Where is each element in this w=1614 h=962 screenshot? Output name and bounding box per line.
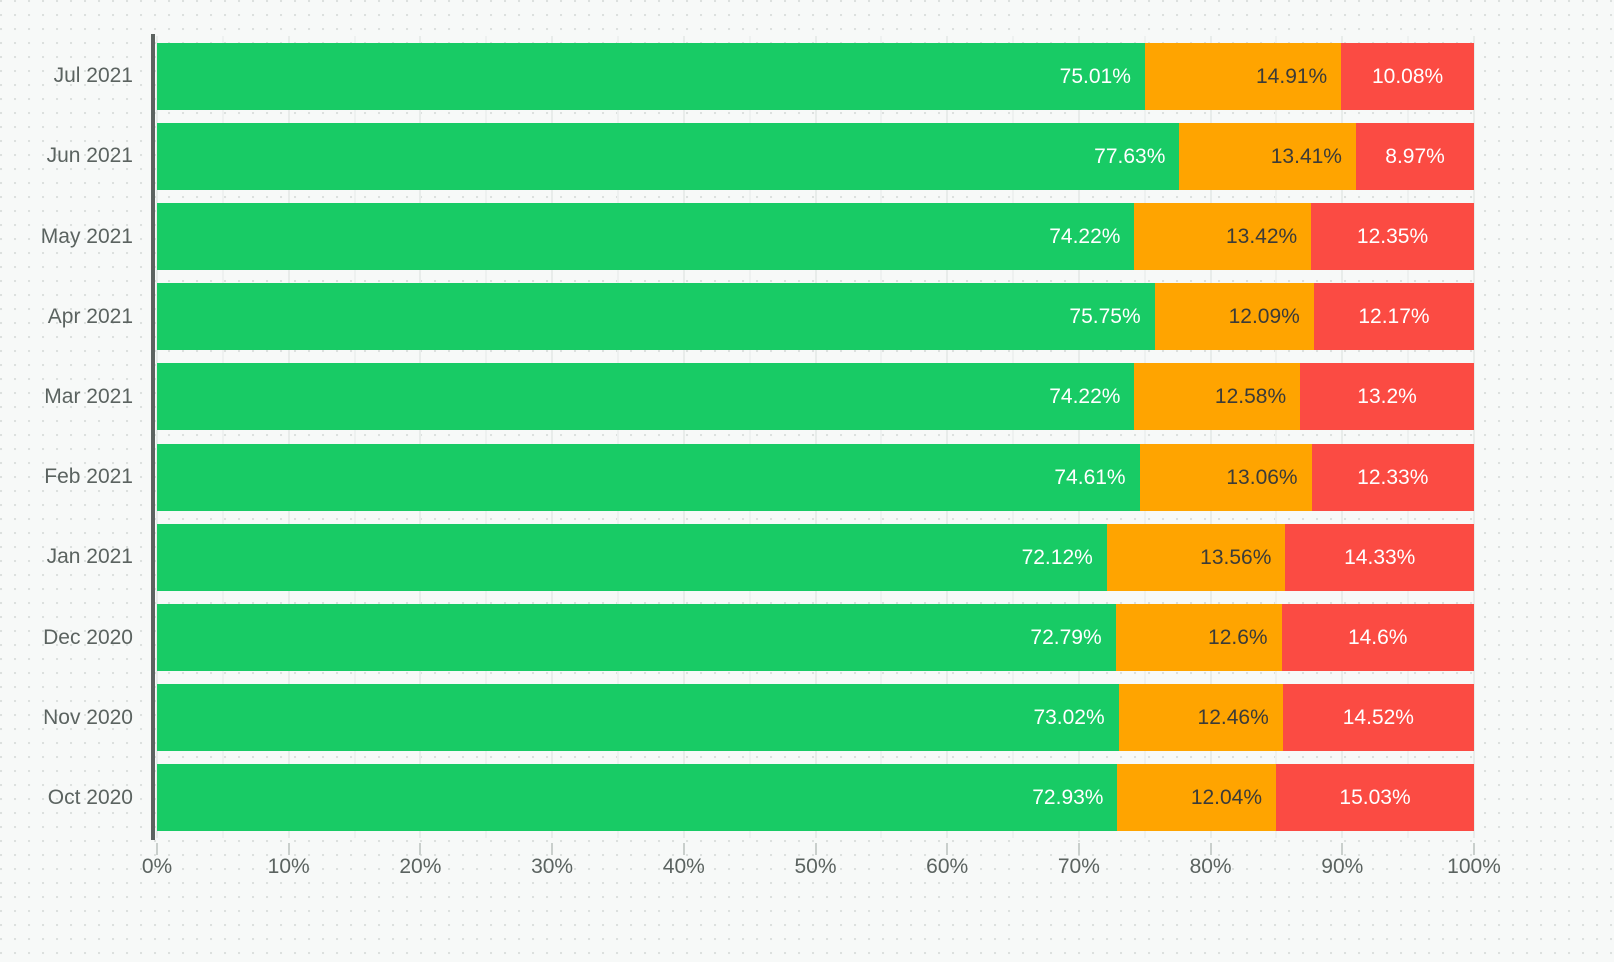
bar-segment-value-label: 14.91%	[1256, 66, 1341, 87]
y-axis-tick-labels: Jul 2021Jun 2021May 2021Apr 2021Mar 2021…	[0, 36, 133, 838]
bar-row: 72.12%13.56%14.33%	[157, 524, 1474, 591]
y-axis-tick-label: Dec 2020	[43, 604, 133, 671]
bar-segment-value-label: 74.22%	[1049, 386, 1134, 407]
bar-segment-red[interactable]: 15.03%	[1276, 764, 1474, 831]
bar-row: 77.63%13.41%8.97%	[157, 123, 1474, 190]
bar-segment-red[interactable]: 12.17%	[1314, 283, 1474, 350]
bar-segment-value-label: 12.09%	[1229, 306, 1314, 327]
y-axis-tick-label: Jan 2021	[47, 524, 133, 591]
x-axis-tick-label: 100%	[1447, 855, 1501, 879]
bar-segment-green[interactable]: 74.61%	[157, 444, 1140, 511]
bar-segment-value-label: 12.04%	[1191, 787, 1276, 808]
bar-row: 74.22%12.58%13.2%	[157, 363, 1474, 430]
bar-segment-value-label: 73.02%	[1033, 707, 1118, 728]
x-axis-tick-label: 0%	[142, 855, 172, 879]
bar-segment-red[interactable]: 14.6%	[1282, 604, 1474, 671]
y-axis-tick-label: Feb 2021	[44, 444, 133, 511]
bar-segment-value-label: 12.58%	[1215, 386, 1300, 407]
bar-segment-green[interactable]: 72.93%	[157, 764, 1117, 831]
x-axis-tick-label: 40%	[663, 855, 705, 879]
bar-segment-orange[interactable]: 13.41%	[1179, 123, 1356, 190]
bar-segment-orange[interactable]: 12.58%	[1134, 363, 1300, 430]
bar-segment-value-label: 12.46%	[1198, 707, 1283, 728]
bar-row: 72.93%12.04%15.03%	[157, 764, 1474, 831]
stacked-bar-chart: Jul 2021Jun 2021May 2021Apr 2021Mar 2021…	[0, 0, 1614, 962]
bar-segment-orange[interactable]: 12.09%	[1155, 283, 1314, 350]
bar-segment-red[interactable]: 8.97%	[1356, 123, 1474, 190]
x-axis-tick-mark	[815, 843, 817, 855]
bar-segment-green[interactable]: 77.63%	[157, 123, 1179, 190]
y-axis-line	[151, 34, 155, 840]
bar-segment-green[interactable]: 75.01%	[157, 43, 1145, 110]
x-axis-tick-label: 60%	[926, 855, 968, 879]
x-axis-tick-mark	[1210, 843, 1212, 855]
bar-segment-value-label: 72.93%	[1032, 787, 1117, 808]
bar-segment-value-label: 14.33%	[1344, 547, 1415, 568]
bar-row: 73.02%12.46%14.52%	[157, 684, 1474, 751]
bar-row: 72.79%12.6%14.6%	[157, 604, 1474, 671]
bar-row: 74.22%13.42%12.35%	[157, 203, 1474, 270]
bar-row: 75.75%12.09%12.17%	[157, 283, 1474, 350]
bar-row: 75.01%14.91%10.08%	[157, 43, 1474, 110]
x-axis-tick-label: 90%	[1321, 855, 1363, 879]
bar-segment-value-label: 13.56%	[1200, 547, 1285, 568]
bar-segment-red[interactable]: 14.52%	[1283, 684, 1474, 751]
x-axis-tick-mark	[683, 843, 685, 855]
bar-segment-value-label: 12.17%	[1358, 306, 1429, 327]
y-axis-tick-label: May 2021	[41, 203, 133, 270]
y-axis-tick-label: Apr 2021	[48, 283, 133, 350]
x-axis-tick-label: 10%	[268, 855, 310, 879]
bar-segment-orange[interactable]: 12.04%	[1117, 764, 1276, 831]
bar-segment-value-label: 8.97%	[1385, 146, 1445, 167]
y-axis-tick-label: Nov 2020	[43, 684, 133, 751]
bar-segment-value-label: 74.61%	[1054, 467, 1139, 488]
bar-segment-value-label: 12.6%	[1208, 627, 1282, 648]
bar-segment-value-label: 14.6%	[1348, 627, 1408, 648]
bar-segment-value-label: 12.33%	[1357, 467, 1428, 488]
bar-segment-value-label: 13.41%	[1271, 146, 1356, 167]
bar-segment-orange[interactable]: 12.46%	[1119, 684, 1283, 751]
bar-segment-value-label: 72.79%	[1030, 627, 1115, 648]
x-axis-tick-mark	[1341, 843, 1343, 855]
plot-area: 75.01%14.91%10.08%77.63%13.41%8.97%74.22…	[157, 36, 1474, 838]
bar-segment-green[interactable]: 74.22%	[157, 203, 1134, 270]
y-axis-tick-label: Jun 2021	[47, 123, 133, 190]
bar-segment-value-label: 77.63%	[1094, 146, 1179, 167]
x-axis-tick-mark	[156, 843, 158, 855]
y-axis-tick-label: Oct 2020	[48, 764, 133, 831]
bar-rows: 75.01%14.91%10.08%77.63%13.41%8.97%74.22…	[157, 36, 1474, 838]
bar-segment-red[interactable]: 12.35%	[1311, 203, 1474, 270]
bar-segment-red[interactable]: 14.33%	[1285, 524, 1474, 591]
bar-segment-value-label: 75.01%	[1060, 66, 1145, 87]
bar-segment-value-label: 13.42%	[1226, 226, 1311, 247]
x-axis-tick-mark	[288, 843, 290, 855]
bar-segment-value-label: 15.03%	[1339, 787, 1410, 808]
bar-row: 74.61%13.06%12.33%	[157, 444, 1474, 511]
bar-segment-red[interactable]: 10.08%	[1341, 43, 1474, 110]
x-axis-tick-label: 80%	[1190, 855, 1232, 879]
bar-segment-value-label: 13.2%	[1357, 386, 1417, 407]
bar-segment-value-label: 12.35%	[1357, 226, 1428, 247]
bar-segment-orange[interactable]: 13.42%	[1134, 203, 1311, 270]
bar-segment-value-label: 14.52%	[1343, 707, 1414, 728]
x-axis-tick-mark	[1473, 843, 1475, 855]
bar-segment-green[interactable]: 72.12%	[157, 524, 1107, 591]
y-axis-tick-label: Jul 2021	[54, 43, 133, 110]
bar-segment-red[interactable]: 13.2%	[1300, 363, 1474, 430]
x-axis-tick-mark	[946, 843, 948, 855]
bar-segment-red[interactable]: 12.33%	[1312, 444, 1474, 511]
bar-segment-orange[interactable]: 13.06%	[1140, 444, 1312, 511]
bar-segment-value-label: 13.06%	[1226, 467, 1311, 488]
bar-segment-value-label: 10.08%	[1372, 66, 1443, 87]
bar-segment-green[interactable]: 73.02%	[157, 684, 1119, 751]
bar-segment-green[interactable]: 74.22%	[157, 363, 1134, 430]
bar-segment-green[interactable]: 72.79%	[157, 604, 1116, 671]
bar-segment-value-label: 72.12%	[1022, 547, 1107, 568]
x-axis-tick-label: 70%	[1058, 855, 1100, 879]
y-axis-tick-label: Mar 2021	[44, 363, 133, 430]
bar-segment-orange[interactable]: 12.6%	[1116, 604, 1282, 671]
x-axis-tick-mark	[419, 843, 421, 855]
bar-segment-value-label: 75.75%	[1069, 306, 1154, 327]
x-axis-tick-label: 50%	[794, 855, 836, 879]
x-axis-tick-mark	[1078, 843, 1080, 855]
bar-segment-orange[interactable]: 14.91%	[1145, 43, 1341, 110]
bar-segment-orange[interactable]: 13.56%	[1107, 524, 1286, 591]
bar-segment-green[interactable]: 75.75%	[157, 283, 1155, 350]
x-axis-tick-mark	[551, 843, 553, 855]
x-axis-tick-label: 30%	[531, 855, 573, 879]
x-axis-tick-label: 20%	[399, 855, 441, 879]
bar-segment-value-label: 74.22%	[1049, 226, 1134, 247]
x-axis-tick-labels: 0%10%20%30%40%50%60%70%80%90%100%	[157, 855, 1474, 895]
